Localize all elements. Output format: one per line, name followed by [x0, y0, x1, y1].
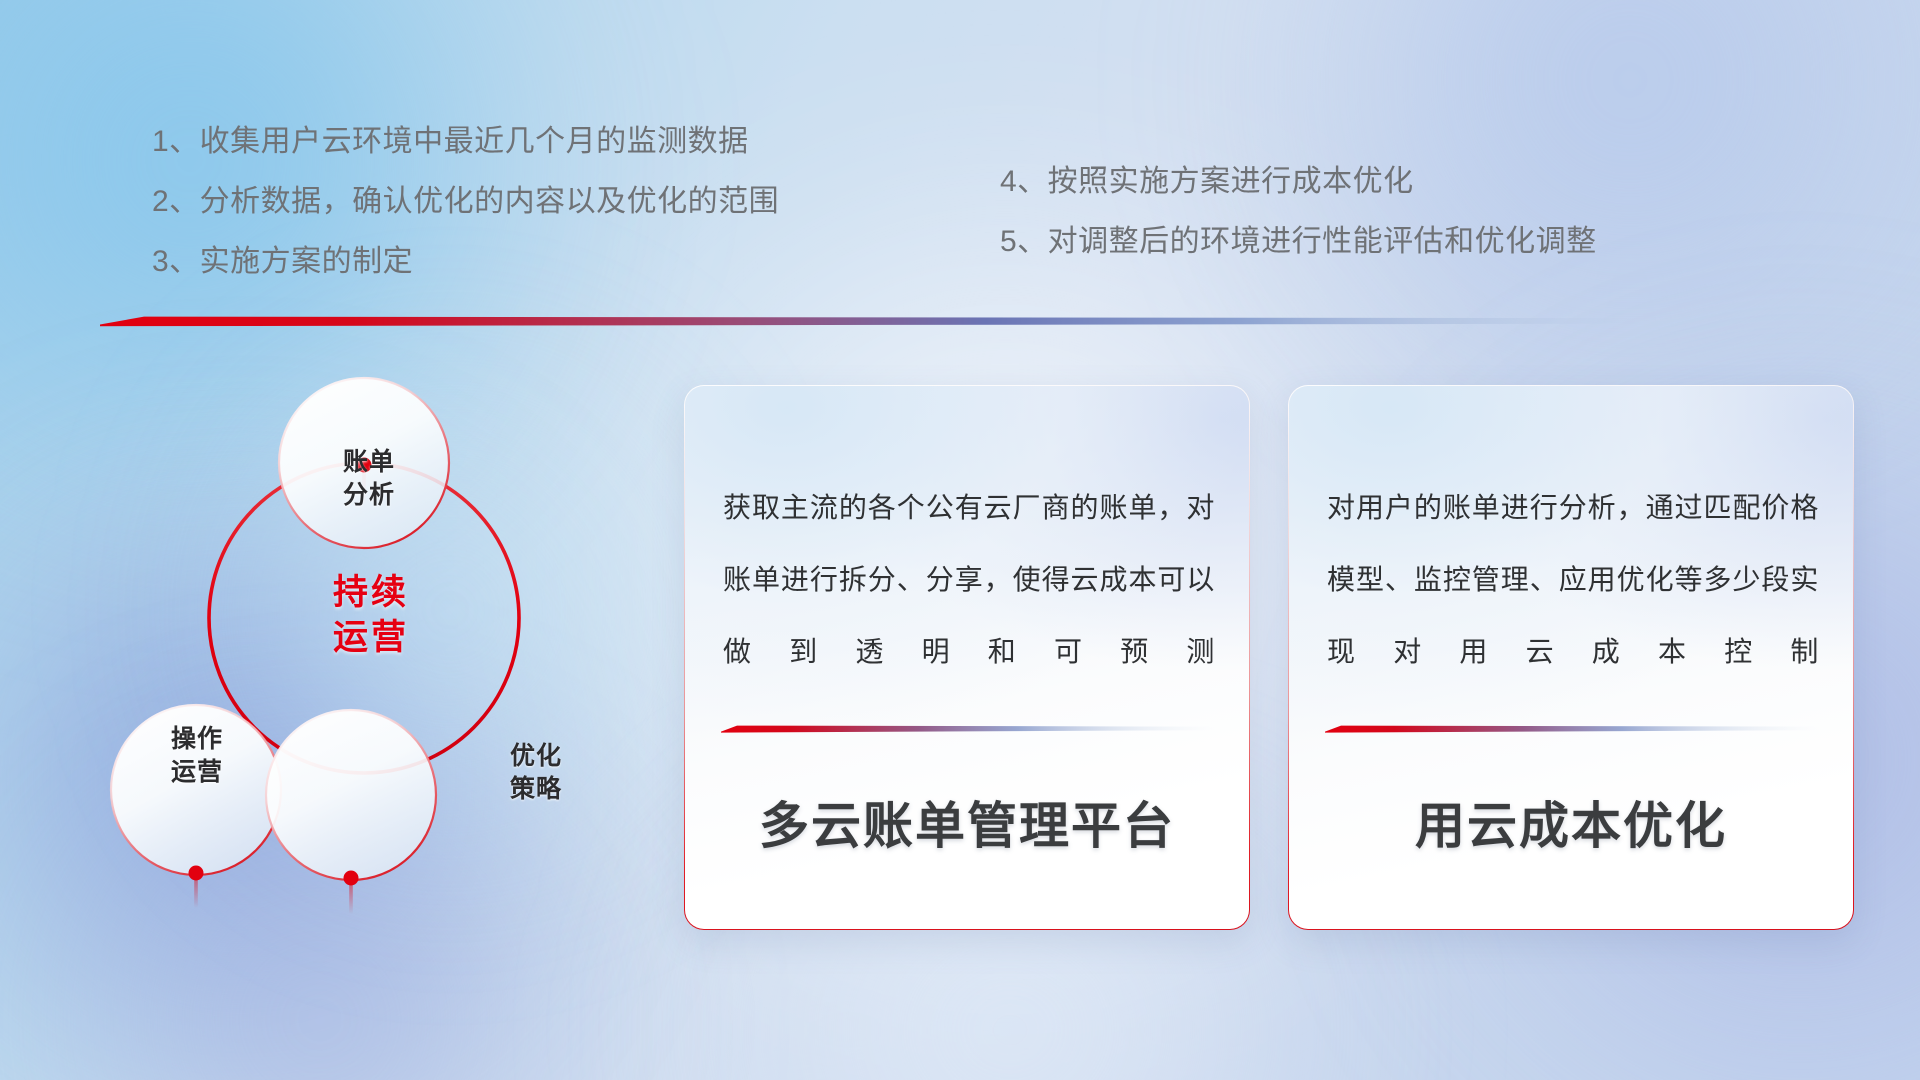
feature-card-description: 获取主流的各个公有云厂商的账单，对账单进行拆分、分享，使得云成本可以做到透明和可…	[723, 472, 1215, 688]
section-divider	[100, 313, 1680, 329]
feature-card-cloud-cost-optimization[interactable]: 对用户的账单进行分析，通过匹配价格模型、监控管理、应用优化等多少段实现对用云成本…	[1288, 385, 1854, 930]
venn-node-label-line: 分析	[289, 479, 449, 512]
feature-card-rule	[1325, 724, 1819, 733]
venn-center-label: 持续 运营	[266, 570, 476, 660]
process-steps-left-column: 1、收集用户云环境中最近几个月的监测数据 2、分析数据，确认优化的内容以及优化的…	[152, 112, 779, 292]
slide-canvas: 1、收集用户云环境中最近几个月的监测数据 2、分析数据，确认优化的内容以及优化的…	[0, 0, 1920, 1080]
continuous-operations-venn: 账单 分析 操作 运营 优化 策略 持续 运营	[96, 340, 656, 940]
venn-node-label-line: 操作	[117, 723, 277, 756]
feature-card-title: 多云账单管理平台	[685, 786, 1249, 858]
feature-card-description: 对用户的账单进行分析，通过匹配价格模型、监控管理、应用优化等多少段实现对用云成本…	[1327, 472, 1819, 688]
venn-node-label-line: 优化	[456, 740, 616, 773]
venn-center-label-line: 运营	[266, 615, 476, 660]
process-steps-right-column: 4、按照实施方案进行成本优化 5、对调整后的环境进行性能评估和优化调整	[1000, 152, 1597, 272]
process-step-item: 1、收集用户云环境中最近几个月的监测数据	[152, 112, 779, 172]
venn-node-label-line: 账单	[289, 446, 449, 479]
process-step-item: 5、对调整后的环境进行性能评估和优化调整	[1000, 212, 1597, 272]
venn-node-dot-right	[344, 871, 359, 886]
venn-node-right-circle	[266, 710, 436, 880]
venn-node-label-top: 账单 分析	[289, 446, 449, 512]
feature-card-rule	[721, 724, 1215, 733]
venn-node-label-line: 策略	[456, 773, 616, 806]
venn-center-label-line: 持续	[266, 570, 476, 615]
process-step-item: 2、分析数据，确认优化的内容以及优化的范围	[152, 172, 779, 232]
feature-card-title: 用云成本优化	[1289, 786, 1853, 858]
feature-card-surface: 获取主流的各个公有云厂商的账单，对账单进行拆分、分享，使得云成本可以做到透明和可…	[685, 386, 1249, 929]
feature-card-surface: 对用户的账单进行分析，通过匹配价格模型、监控管理、应用优化等多少段实现对用云成本…	[1289, 386, 1853, 929]
venn-node-label-line: 运营	[117, 756, 277, 789]
venn-node-label-right: 优化 策略	[456, 740, 616, 806]
process-step-item: 3、实施方案的制定	[152, 232, 779, 292]
venn-node-dot-left	[189, 866, 204, 881]
process-step-item: 4、按照实施方案进行成本优化	[1000, 152, 1597, 212]
venn-node-label-left: 操作 运营	[117, 723, 277, 789]
feature-card-multi-cloud-billing[interactable]: 获取主流的各个公有云厂商的账单，对账单进行拆分、分享，使得云成本可以做到透明和可…	[684, 385, 1250, 930]
